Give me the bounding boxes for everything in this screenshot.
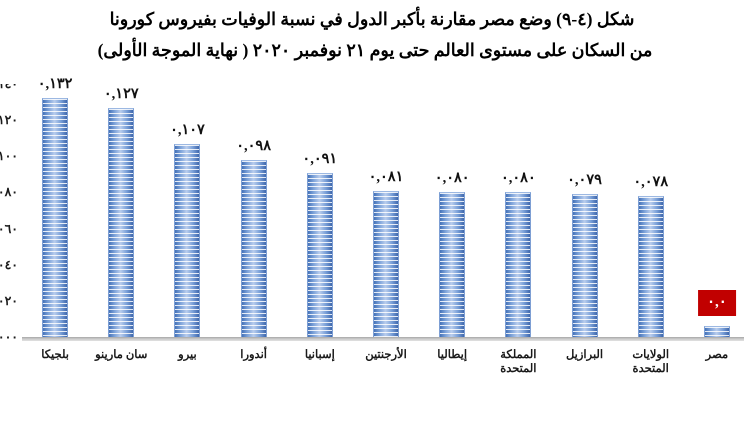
- x-axis-category-label: المملكة المتحدة: [485, 348, 551, 376]
- bar-slot: ٠,١٣٢: [42, 84, 68, 337]
- bar[interactable]: [174, 144, 200, 337]
- bar-value-label: ٠,٠٨٠: [501, 170, 536, 187]
- y-axis-tick-label: ٠,١٤٠: [0, 84, 18, 92]
- chart-plot-area: ٠,١٤٠٠,١٢٠٠,١٠٠٠,٠٨٠٠,٠٦٠٠,٠٤٠٠,٠٢٠٠,٠٠٠…: [0, 84, 750, 346]
- bar-slot: ٠,٠٩١: [307, 84, 333, 337]
- x-axis-category-label: بلجيكا: [22, 348, 88, 362]
- bar-slot: ٠,١٠٧: [174, 84, 200, 337]
- x-axis-category-label: مصر: [684, 348, 750, 362]
- bar[interactable]: [373, 191, 399, 337]
- bar-value-label: ٠,٠٧٨: [633, 174, 668, 191]
- bar-series: ٠,١٣٢٠,١٢٧٠,١٠٧٠,٠٩٨٠,٠٩١٠,٠٨١٠,٠٨٠٠,٠٨٠…: [22, 84, 750, 337]
- x-axis-category-label: الأرجنتين: [353, 348, 419, 362]
- x-axis-category-label: أندورا: [221, 348, 287, 362]
- y-axis-tick-label: ٠,٠٠٠: [0, 329, 18, 345]
- chart-title-block: شكل (٤-٩) وضع مصر مقارنة بأكبر الدول في …: [0, 4, 750, 66]
- bar-value-label: ٠,١٣٢: [38, 76, 73, 93]
- bar[interactable]: [505, 192, 531, 337]
- y-axis-tick-label: ٠,٠٢٠: [0, 293, 18, 309]
- bar-slot: ٠,٠٧٩: [572, 84, 598, 337]
- chart-title-line-1: شكل (٤-٩) وضع مصر مقارنة بأكبر الدول في …: [0, 4, 750, 35]
- bar-slot: ٠,٠٧٨: [638, 84, 664, 337]
- bar[interactable]: [638, 196, 664, 337]
- bar-value-label: ٠,١٠٧: [170, 122, 205, 139]
- bar-slot: ٠,٠٨١: [373, 84, 399, 337]
- y-axis: ٠,١٤٠٠,١٢٠٠,١٠٠٠,٠٨٠٠,٠٦٠٠,٠٤٠٠,٠٢٠٠,٠٠٠: [0, 84, 22, 346]
- x-axis-category-label: بيرو: [154, 348, 220, 362]
- x-axis-category-label: البرازيل: [551, 348, 617, 362]
- y-axis-tick-label: ٠,١٢٠: [0, 112, 18, 128]
- chart-title-line-2: من السكان على مستوى العالم حتى يوم ٢١ نو…: [0, 35, 750, 66]
- x-axis-category-label: إيطاليا: [419, 348, 485, 362]
- bar-value-label-highlight: ٠,٠: [698, 290, 736, 316]
- bar[interactable]: [572, 194, 598, 337]
- y-axis-tick-label: ٠,٠٤٠: [0, 257, 18, 273]
- bar-slot: ٠,٠٨٠: [439, 84, 465, 337]
- bar-slot: ٠,٠: [704, 84, 730, 337]
- bar-value-label: ٠,٠٨١: [369, 169, 404, 186]
- y-axis-tick-label: ٠,٠٦٠: [0, 221, 18, 237]
- x-axis-category-label: إسبانيا: [287, 348, 353, 362]
- x-axis-category-labels: بلجيكاسان مارينوبيروأندوراإسبانياالأرجنت…: [22, 348, 750, 398]
- x-axis-category-label: سان مارينو: [88, 348, 154, 362]
- bar[interactable]: [307, 173, 333, 337]
- bar-slot: ٠,٠٨٠: [505, 84, 531, 337]
- y-axis-tick-label: ٠,١٠٠: [0, 148, 18, 164]
- x-axis-category-label: الولايات المتحدة: [618, 348, 684, 376]
- bar[interactable]: [42, 98, 68, 337]
- bar[interactable]: [108, 108, 134, 338]
- bar-value-label: ٠,١٢٧: [104, 86, 139, 103]
- bar-slot: ٠,٠٩٨: [241, 84, 267, 337]
- bar-slot: ٠,١٢٧: [108, 84, 134, 337]
- y-axis-tick-label: ٠,٠٨٠: [0, 184, 18, 200]
- bar-value-label: ٠,٠٨٠: [435, 170, 470, 187]
- bar-value-label: ٠,٠٩٨: [236, 138, 271, 155]
- bar[interactable]: [241, 160, 267, 337]
- bar-value-label: ٠,٠٩١: [302, 151, 337, 168]
- category-axis-line: [22, 337, 744, 341]
- bar[interactable]: [439, 192, 465, 337]
- bar[interactable]: [704, 326, 730, 337]
- bar-value-label: ٠,٠٧٩: [567, 172, 602, 189]
